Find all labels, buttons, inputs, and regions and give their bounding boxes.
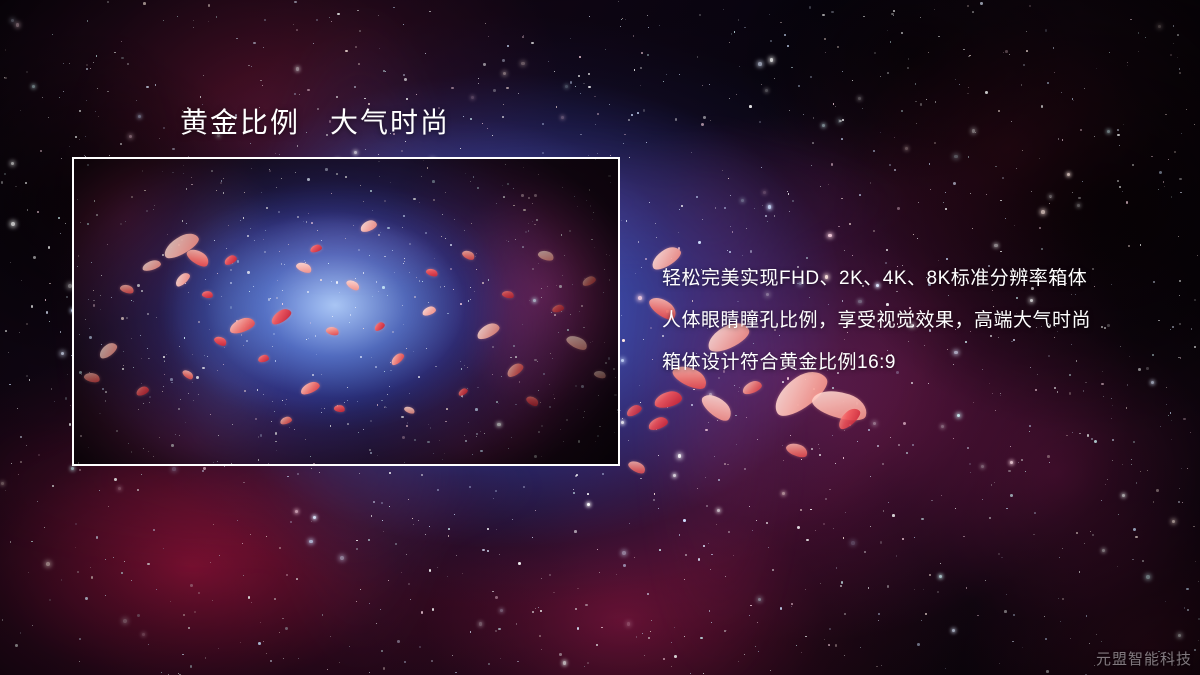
petal bbox=[835, 405, 863, 432]
feature-line-2: 人体眼睛瞳孔比例，享受视觉效果，高端大气时尚 bbox=[662, 300, 1162, 342]
watermark-label: 元盟智能科技 bbox=[1096, 648, 1192, 669]
video-preview-frame[interactable] bbox=[72, 157, 620, 466]
slide-canvas: 黄金比例 大气时尚 轻松完美实现FHD、2K、4K、8K标准分辨率箱体 人体眼睛… bbox=[0, 0, 1200, 675]
petal bbox=[653, 389, 684, 409]
petal bbox=[627, 458, 648, 476]
panel-vignette-overlay bbox=[74, 159, 618, 464]
page-title: 黄金比例 大气时尚 bbox=[180, 101, 450, 141]
petal bbox=[647, 415, 669, 432]
petal bbox=[698, 389, 735, 425]
petal bbox=[809, 384, 870, 426]
petal bbox=[625, 403, 643, 418]
feature-text-block: 轻松完美实现FHD、2K、4K、8K标准分辨率箱体 人体眼睛瞳孔比例，享受视觉效… bbox=[662, 258, 1162, 384]
feature-line-1: 轻松完美实现FHD、2K、4K、8K标准分辨率箱体 bbox=[662, 258, 1162, 300]
petal bbox=[785, 440, 810, 460]
feature-line-3: 箱体设计符合黄金比例16:9 bbox=[662, 342, 1162, 384]
